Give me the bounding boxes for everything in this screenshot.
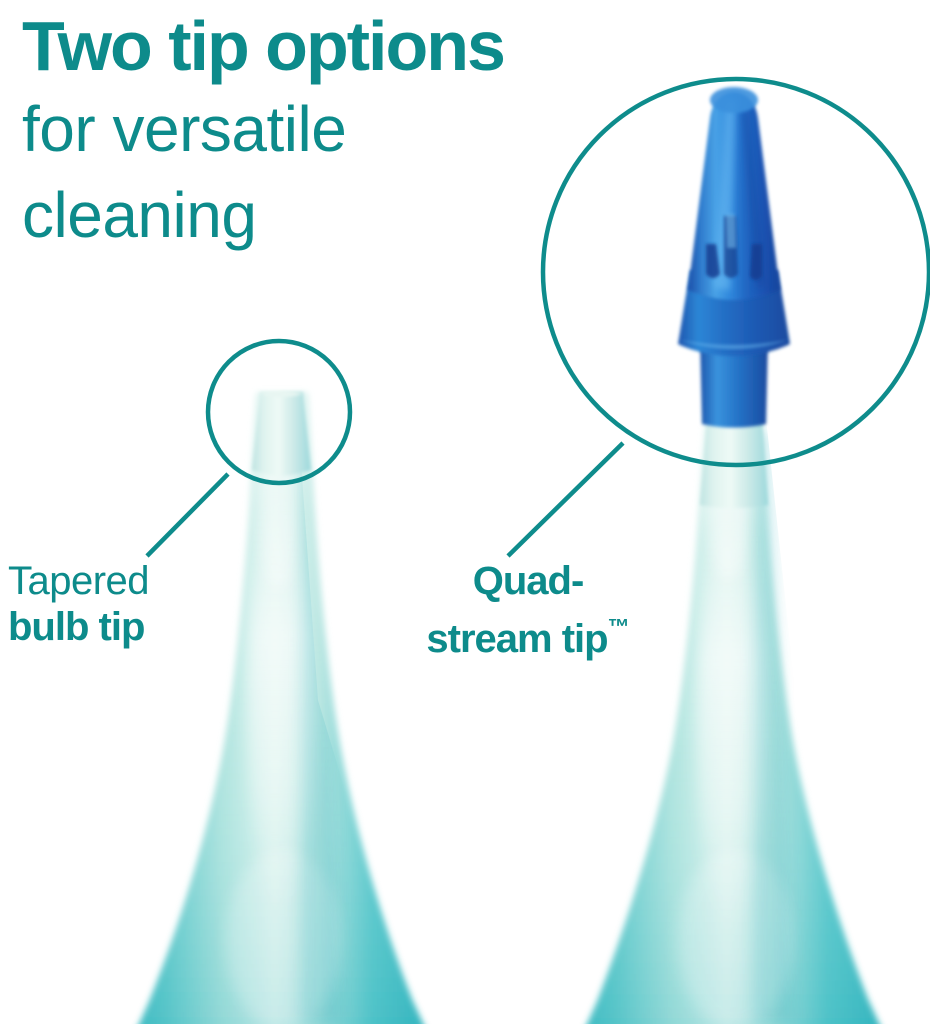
callout-right-line-2: stream tip™ <box>383 604 673 662</box>
callout-right-line-2-text: stream tip <box>426 617 607 661</box>
leader-line-right <box>508 443 623 556</box>
headline-block: Two tip options for versatile cleaning <box>22 6 722 258</box>
tapered-bulb-syringe <box>128 391 434 1024</box>
callout-label-right: Quad- stream tip™ <box>383 558 673 662</box>
infographic-canvas: Two tip options for versatile cleaning T… <box>0 0 930 1024</box>
headline-line-2: for versatile <box>22 86 722 172</box>
callout-left <box>147 341 350 556</box>
callout-right-line-1: Quad- <box>383 558 673 604</box>
headline-line-1: Two tip options <box>22 6 722 86</box>
trademark-symbol: ™ <box>608 614 630 639</box>
callout-left-line-1: Tapered <box>8 558 149 604</box>
slot-catchlight <box>726 214 736 248</box>
stream-slot-right <box>750 244 762 280</box>
callout-label-left: Tapered bulb tip <box>8 558 149 650</box>
leader-line-left <box>147 474 228 556</box>
callout-left-line-2: bulb tip <box>8 604 149 650</box>
bulb-nozzle-tip <box>252 392 311 476</box>
headline-line-3: cleaning <box>22 172 722 258</box>
